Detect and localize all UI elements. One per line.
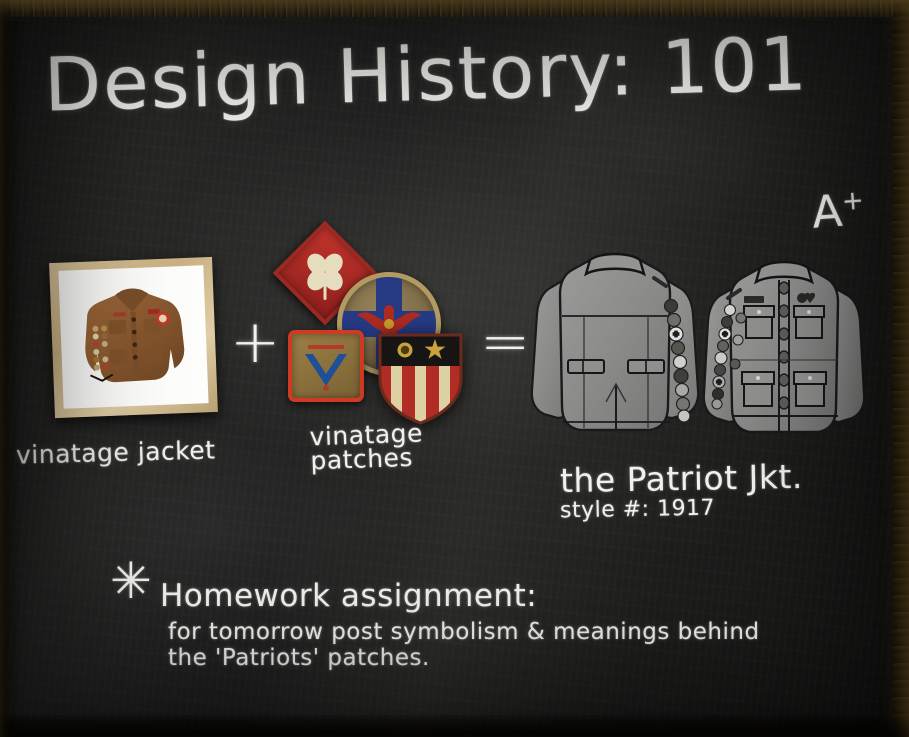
vintage-jacket-photo bbox=[58, 265, 208, 408]
product-style-number: style #: 1917 bbox=[560, 496, 715, 524]
equals-operator: = bbox=[480, 312, 530, 372]
grade-letter: A bbox=[810, 186, 844, 239]
homework-heading: Homework assignment: bbox=[160, 578, 537, 614]
asterisk-icon: ✳ bbox=[110, 556, 152, 606]
board-edge-right bbox=[893, 0, 909, 737]
photo-mat bbox=[58, 265, 208, 408]
grade-plus: + bbox=[841, 186, 865, 217]
homework-line-1: for tomorrow post symbolism & meanings b… bbox=[168, 619, 760, 645]
patriot-jacket-back-flat bbox=[528, 238, 708, 458]
chalkboard-canvas: Design History: 101 A+ bbox=[0, 0, 909, 737]
homework-line-2: the 'Patriots' patches. bbox=[168, 645, 430, 671]
grade-mark: A+ bbox=[810, 184, 866, 239]
board-edge-top bbox=[0, 0, 909, 17]
product-name: the Patriot Jkt. bbox=[560, 457, 804, 500]
board-edge-bottom bbox=[0, 715, 909, 737]
stars-stripes-shield-patch bbox=[378, 333, 463, 425]
vintage-jacket-photo-frame bbox=[49, 257, 218, 418]
chevron-v-square-patch bbox=[288, 330, 364, 402]
board-edge-left bbox=[0, 0, 11, 737]
label-vintage-jacket: vinatage jacket bbox=[16, 435, 216, 469]
plus-operator: + bbox=[230, 312, 280, 372]
label-vintage-patches: vinatage patches bbox=[309, 421, 446, 473]
patriot-jacket-front-flat bbox=[700, 248, 875, 460]
page-title: Design History: 101 bbox=[43, 27, 809, 122]
